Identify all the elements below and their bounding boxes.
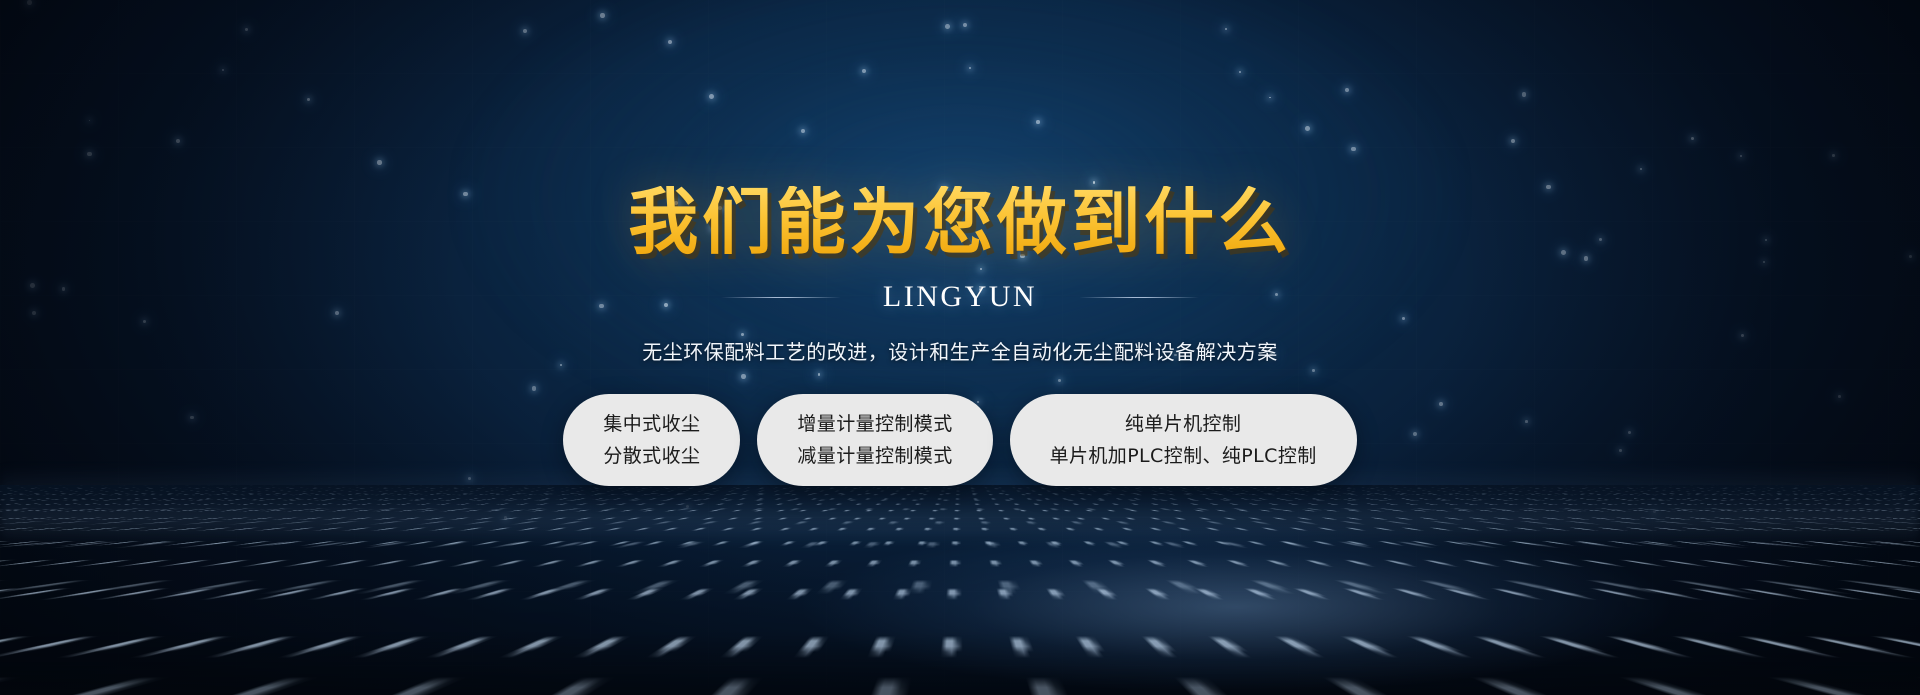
feature-card-line-2: 单片机加PLC控制、纯PLC控制: [1050, 446, 1317, 467]
feature-card-line-2: 分散式收尘: [603, 446, 700, 467]
feature-card-line-2: 减量计量控制模式: [797, 446, 952, 467]
banner-description: 无尘环保配料工艺的改进，设计和生产全自动化无尘配料设备解决方案: [642, 336, 1278, 365]
feature-card-metering-mode[interactable]: 增量计量控制模式 减量计量控制模式: [757, 394, 992, 486]
divider-line-left: [721, 297, 841, 298]
feature-card-dust-collection[interactable]: 集中式收尘 分散式收尘: [563, 394, 740, 486]
brand-latin-name: LINGYUN: [883, 280, 1037, 314]
feature-card-line-1: 集中式收尘: [603, 414, 700, 435]
feature-card-list: 集中式收尘 分散式收尘 增量计量控制模式 减量计量控制模式 纯单片机控制 单片机…: [563, 394, 1356, 486]
divider-line-right: [1079, 297, 1199, 298]
feature-card-control-system[interactable]: 纯单片机控制 单片机加PLC控制、纯PLC控制: [1010, 394, 1357, 486]
feature-card-line-1: 纯单片机控制: [1125, 414, 1241, 435]
brand-subtitle-row: LINGYUN: [721, 280, 1199, 314]
feature-card-line-1: 增量计量控制模式: [797, 414, 952, 435]
hero-banner: 我们能为您做到什么 LINGYUN 无尘环保配料工艺的改进，设计和生产全自动化无…: [0, 0, 1920, 695]
page-title: 我们能为您做到什么: [628, 186, 1291, 258]
banner-content: 我们能为您做到什么 LINGYUN 无尘环保配料工艺的改进，设计和生产全自动化无…: [0, 0, 1920, 695]
